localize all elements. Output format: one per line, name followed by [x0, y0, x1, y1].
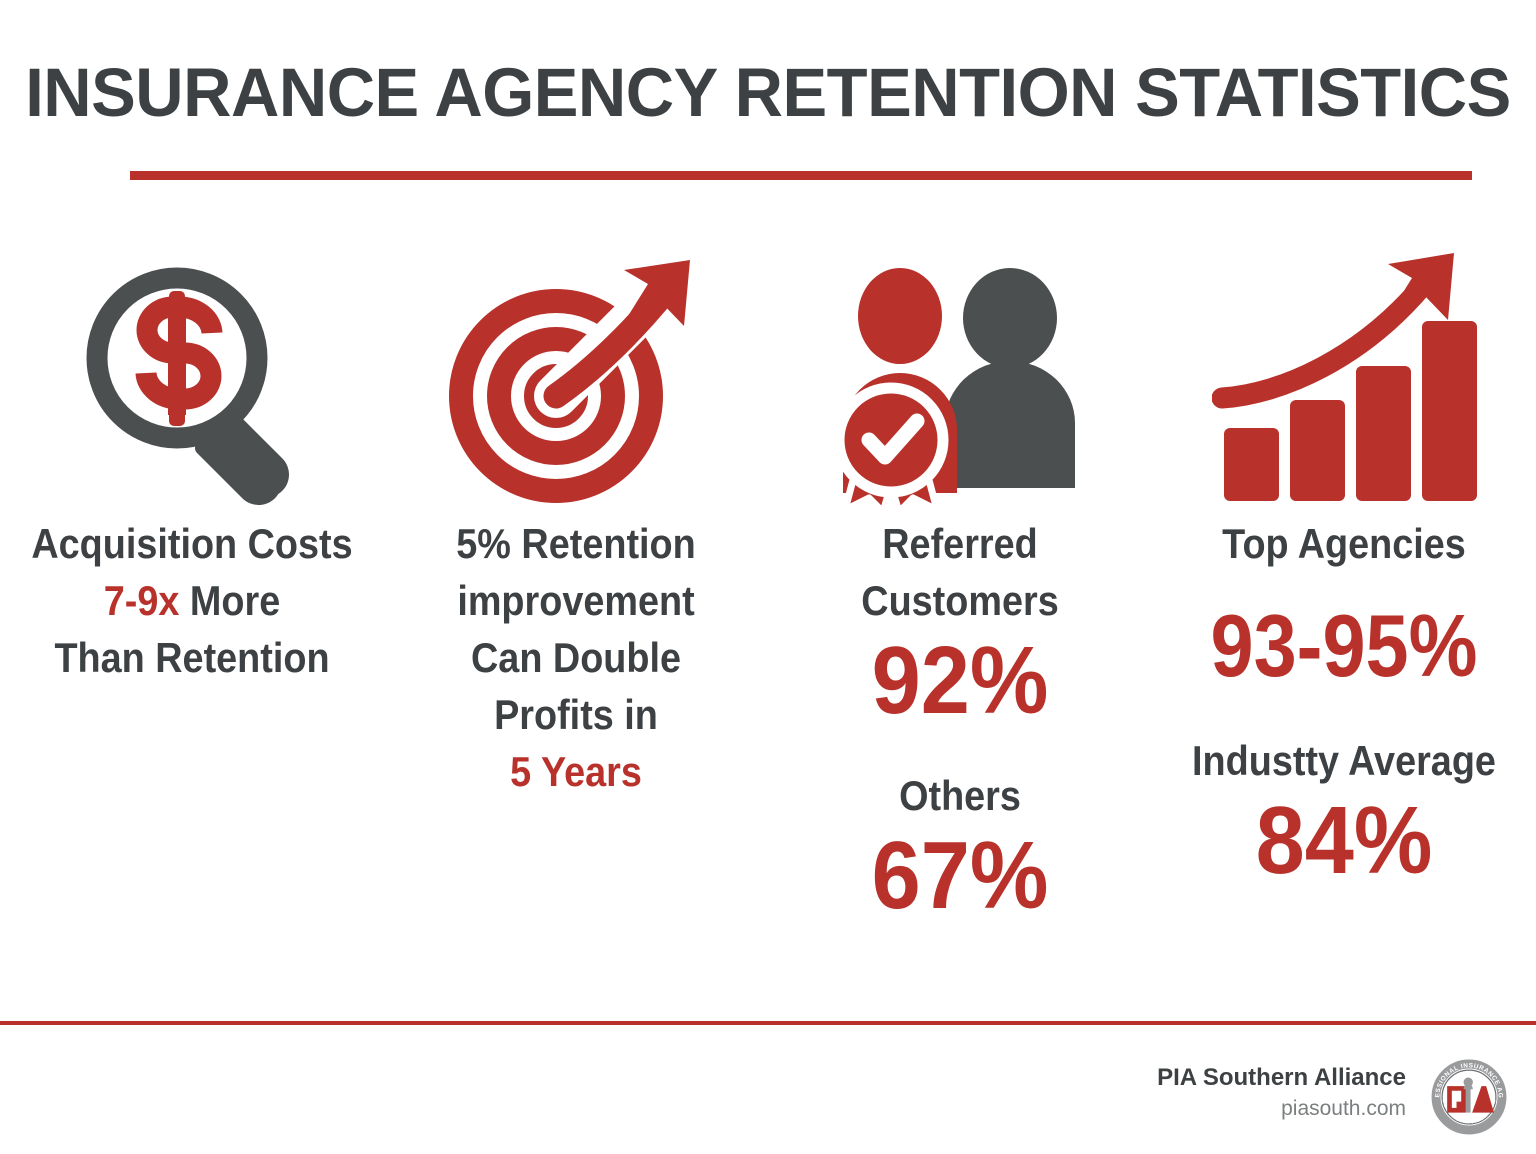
spacer: [778, 733, 1142, 767]
icon-cell-acquisition-costs: [0, 228, 384, 508]
footer-brand: PIA Southern Alliance: [1157, 1062, 1406, 1094]
stat-line-3: Can Double: [412, 629, 740, 686]
target-arrow-icon: [446, 248, 706, 508]
title-divider: [130, 171, 1472, 180]
stat-sub-label: Industty Average: [1180, 732, 1508, 789]
footer-website[interactable]: piasouth.com: [1157, 1094, 1406, 1124]
growth-bars-icon: [1212, 248, 1477, 508]
stats-row: Acquisition Costs 7-9x More Than Retenti…: [0, 515, 1536, 985]
highlight-multiplier: 7-9x: [104, 577, 180, 624]
stat-line-1: 5% Retention: [412, 515, 740, 572]
stat-primary-value: 92%: [793, 629, 1128, 733]
stat-secondary-value: 84%: [1177, 789, 1512, 893]
footer: PIA Southern Alliance piasouth.com PROFE…: [0, 1040, 1536, 1154]
stat-line-2: Customers: [796, 572, 1124, 629]
stat-line-1: Acquisition Costs: [28, 515, 356, 572]
stat-secondary-value: 67%: [793, 824, 1128, 928]
stat-column-top-agencies: Top Agencies 93-95% Industty Average 84%: [1152, 515, 1536, 893]
stat-line-2: improvement: [412, 572, 740, 629]
magnifier-dollar-icon: [72, 258, 312, 508]
stat-column-acquisition-costs: Acquisition Costs 7-9x More Than Retenti…: [0, 515, 384, 686]
icon-cell-top-agencies: [1152, 228, 1536, 508]
stat-line-2: 7-9x More: [28, 572, 356, 629]
stat-column-retention-improvement: 5% Retention improvement Can Double Prof…: [384, 515, 768, 800]
footer-divider: [0, 1021, 1536, 1025]
stat-line-4: Profits in: [412, 686, 740, 743]
stat-primary-value: 93-95%: [1184, 594, 1504, 698]
stat-line-1: Top Agencies: [1180, 515, 1508, 572]
stat-line-3: Than Retention: [28, 629, 356, 686]
stat-sub-label: Others: [796, 767, 1124, 824]
icon-cell-referred-customers: [768, 228, 1152, 508]
stat-column-referred-customers: Referred Customers 92% Others 67%: [768, 515, 1152, 928]
stat-line-5-highlight: 5 Years: [412, 743, 740, 800]
page-title: INSURANCE AGENCY RETENTION STATISTICS: [23, 58, 1513, 127]
spacer: [1162, 698, 1526, 732]
footer-text-block: PIA Southern Alliance piasouth.com: [1157, 1062, 1406, 1124]
person-gray: [945, 268, 1075, 488]
stat-line-2-rest: More: [179, 577, 280, 624]
stat-line-1: Referred: [796, 515, 1124, 572]
icon-row: [0, 228, 1536, 508]
referred-customers-icon: [825, 258, 1095, 508]
pia-logo: PROFESSIONAL INSURANCE AGENTS SOUTHERN A…: [1430, 1058, 1508, 1141]
header: INSURANCE AGENCY RETENTION STATISTICS: [0, 0, 1536, 200]
icon-cell-retention-improvement: [384, 228, 768, 508]
spacer: [1162, 572, 1526, 594]
